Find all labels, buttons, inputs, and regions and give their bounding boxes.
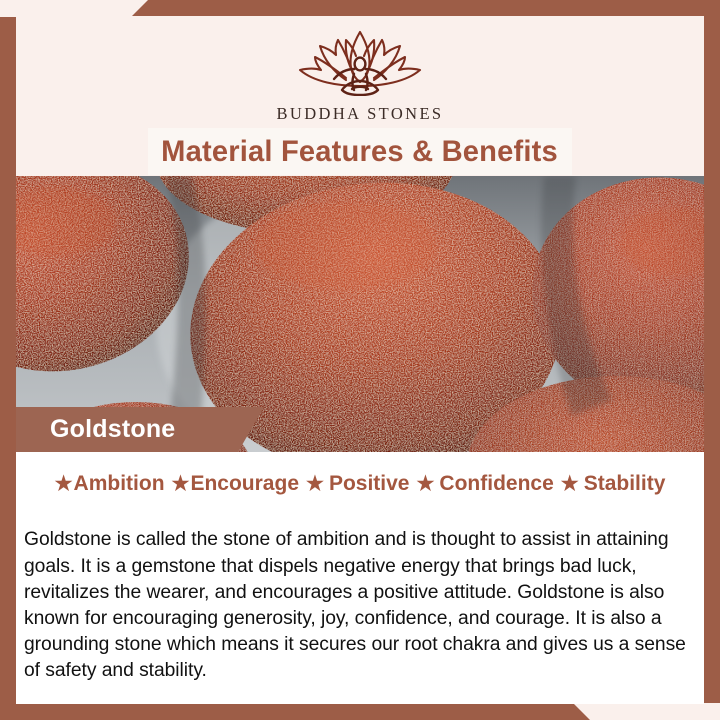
benefit-keyword-confidence: ★Confidence [416, 472, 553, 496]
benefit-keyword-label: Encourage [190, 472, 299, 496]
brand-name: BUDDHA STONES [0, 104, 720, 124]
product-feature-card: BUDDHA STONES Material Features & Benefi… [0, 0, 720, 720]
star-icon: ★ [306, 474, 324, 494]
benefit-keyword-label: Confidence [439, 472, 553, 496]
benefit-keyword-stability: ★Stability [561, 472, 666, 496]
title-banner: Material Features & Benefits [148, 128, 572, 175]
stone-name-tag: Goldstone [16, 407, 264, 452]
content-panel: ★Ambition ★Encourage ★Positive ★Confiden… [16, 452, 704, 704]
lotus-meditation-figure-icon [0, 24, 720, 101]
stone-description: Goldstone is called the stone of ambitio… [24, 527, 700, 684]
frame-bottom-border [0, 704, 720, 720]
benefit-keyword-encourage: ★Encourage [172, 472, 299, 496]
benefit-keyword-positive: ★Positive [306, 472, 409, 496]
benefit-keyword-label: Ambition [74, 472, 165, 496]
benefit-keyword-row: ★Ambition ★Encourage ★Positive ★Confiden… [16, 472, 704, 496]
benefit-keyword-ambition: ★Ambition [55, 472, 165, 496]
star-icon: ★ [55, 474, 73, 494]
star-icon: ★ [172, 474, 190, 494]
frame-top-border [0, 0, 720, 16]
frame-top-left-notch [0, 0, 16, 17]
benefit-keyword-label: Stability [584, 472, 666, 496]
star-icon: ★ [416, 474, 434, 494]
benefit-keyword-label: Positive [329, 472, 410, 496]
page-title: Material Features & Benefits [162, 135, 559, 169]
stone-name-label: Goldstone [50, 415, 175, 444]
brand-logo: BUDDHA STONES [0, 24, 720, 124]
star-icon: ★ [561, 474, 579, 494]
frame-bottom-right-notch [704, 703, 720, 720]
